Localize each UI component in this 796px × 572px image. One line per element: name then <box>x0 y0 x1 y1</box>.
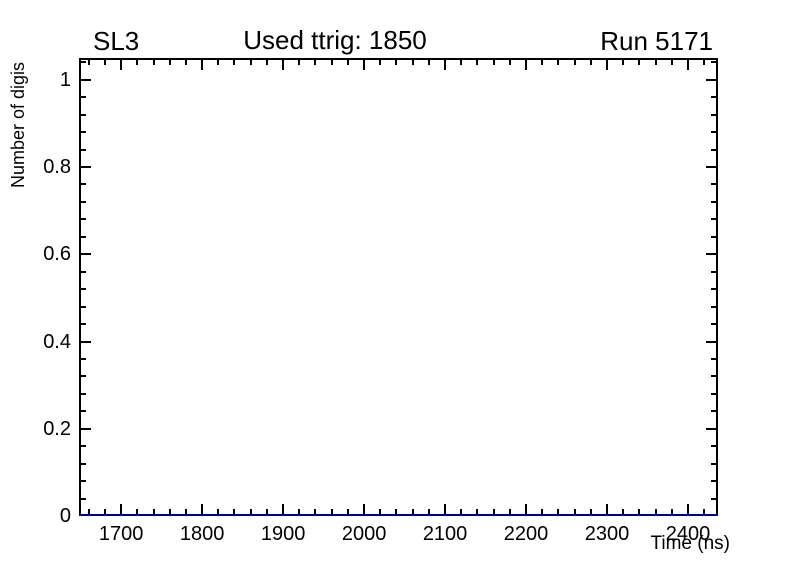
y-tick-minor <box>80 306 86 308</box>
x-tick-minor-top <box>298 59 300 65</box>
histogram-zero-line <box>79 514 718 516</box>
x-axis-title: Time (ns) <box>650 534 730 553</box>
y-tick-major <box>80 428 91 430</box>
y-tick-minor <box>80 375 86 377</box>
y-tick-minor <box>80 131 86 133</box>
y-tick-minor <box>80 410 86 412</box>
x-tick-minor-top <box>703 59 705 65</box>
x-tick-minor-top <box>250 59 252 65</box>
y-tick-minor-right <box>711 375 717 377</box>
x-tick-minor-top <box>655 59 657 65</box>
x-tick-major-top <box>525 59 527 70</box>
y-tick-minor <box>80 61 86 63</box>
x-tick-major-top <box>282 59 284 70</box>
y-tick-major <box>80 341 91 343</box>
y-tick-major-right <box>706 428 717 430</box>
x-tick-minor-top <box>379 59 381 65</box>
x-tick-minor-top <box>509 59 511 65</box>
x-tick-minor-top <box>347 59 349 65</box>
x-tick-minor-top <box>266 59 268 65</box>
x-tick-major-top <box>201 59 203 70</box>
x-tick-minor-top <box>574 59 576 65</box>
y-tick-minor <box>80 480 86 482</box>
x-tick-minor-top <box>590 59 592 65</box>
y-tick-major-right <box>706 79 717 81</box>
y-tick-minor-right <box>711 306 717 308</box>
y-tick-minor-right <box>711 201 717 203</box>
y-tick-label: 0.2 <box>43 419 71 439</box>
y-tick-minor <box>80 288 86 290</box>
y-tick-minor-right <box>711 463 717 465</box>
y-tick-minor-right <box>711 498 717 500</box>
y-tick-minor-right <box>711 96 717 98</box>
y-tick-minor <box>80 149 86 151</box>
y-tick-minor-right <box>711 218 717 220</box>
y-tick-major-right <box>706 253 717 255</box>
x-tick-minor-top <box>493 59 495 65</box>
y-tick-label: 0 <box>60 506 71 526</box>
x-tick-major-top <box>687 59 689 70</box>
root-canvas: SL3 Used ttrig: 1850 Run 5171 Number of … <box>0 0 796 572</box>
y-tick-minor-right <box>711 288 717 290</box>
y-tick-major <box>80 166 91 168</box>
y-tick-major-right <box>706 166 717 168</box>
y-tick-minor-right <box>711 358 717 360</box>
pad-title-left: SL3 <box>93 28 139 54</box>
pad-title-center: Used ttrig: 1850 <box>243 27 427 53</box>
y-axis-title-text: Number of digis <box>8 62 28 188</box>
x-tick-major-top <box>363 59 365 70</box>
x-tick-minor-top <box>412 59 414 65</box>
y-tick-minor <box>80 114 86 116</box>
x-tick-minor-top <box>217 59 219 65</box>
y-tick-major <box>80 79 91 81</box>
x-tick-minor-top <box>169 59 171 65</box>
y-tick-minor-right <box>711 236 717 238</box>
y-tick-minor <box>80 218 86 220</box>
y-tick-label: 0.4 <box>43 332 71 352</box>
x-tick-minor-top <box>541 59 543 65</box>
x-tick-label: 2200 <box>504 524 549 544</box>
y-tick-minor <box>80 445 86 447</box>
x-tick-minor-top <box>557 59 559 65</box>
y-tick-minor <box>80 183 86 185</box>
x-tick-label: 1800 <box>180 524 225 544</box>
x-tick-minor-top <box>638 59 640 65</box>
y-tick-minor-right <box>711 131 717 133</box>
x-tick-minor-top <box>476 59 478 65</box>
x-tick-minor-top <box>233 59 235 65</box>
y-tick-major-right <box>706 341 717 343</box>
x-tick-label: 2300 <box>585 524 630 544</box>
y-tick-minor-right <box>711 61 717 63</box>
x-tick-minor-top <box>428 59 430 65</box>
y-tick-minor-right <box>711 410 717 412</box>
x-tick-label: 2000 <box>342 524 387 544</box>
y-tick-minor <box>80 498 86 500</box>
y-tick-label: 0.8 <box>43 157 71 177</box>
y-tick-minor-right <box>711 149 717 151</box>
x-tick-label: 1900 <box>261 524 306 544</box>
y-tick-minor <box>80 271 86 273</box>
y-tick-label: 1 <box>60 70 71 90</box>
y-tick-minor-right <box>711 393 717 395</box>
y-tick-label: 0.6 <box>43 244 71 264</box>
y-tick-major <box>80 253 91 255</box>
y-tick-minor <box>80 358 86 360</box>
y-tick-minor-right <box>711 480 717 482</box>
x-tick-minor-top <box>185 59 187 65</box>
x-tick-minor-top <box>136 59 138 65</box>
x-tick-label: 2100 <box>423 524 468 544</box>
x-tick-minor-top <box>460 59 462 65</box>
x-tick-label: 1700 <box>99 524 144 544</box>
x-tick-minor-top <box>153 59 155 65</box>
x-tick-major-top <box>606 59 608 70</box>
x-tick-major-top <box>444 59 446 70</box>
y-tick-minor-right <box>711 183 717 185</box>
y-tick-minor-right <box>711 271 717 273</box>
y-tick-minor <box>80 236 86 238</box>
y-tick-minor <box>80 323 86 325</box>
y-tick-minor <box>80 96 86 98</box>
plot-frame <box>79 58 718 516</box>
pad-title-right: Run 5171 <box>600 28 713 54</box>
x-tick-minor-top <box>622 59 624 65</box>
y-tick-minor <box>80 201 86 203</box>
x-tick-minor-top <box>314 59 316 65</box>
y-tick-minor-right <box>711 323 717 325</box>
y-tick-minor <box>80 393 86 395</box>
x-tick-minor-top <box>331 59 333 65</box>
x-tick-minor-top <box>104 59 106 65</box>
x-tick-major-top <box>120 59 122 70</box>
x-tick-minor-top <box>88 59 90 65</box>
x-tick-minor-top <box>395 59 397 65</box>
y-tick-minor-right <box>711 114 717 116</box>
x-tick-minor-top <box>671 59 673 65</box>
y-tick-minor <box>80 463 86 465</box>
y-tick-minor-right <box>711 445 717 447</box>
